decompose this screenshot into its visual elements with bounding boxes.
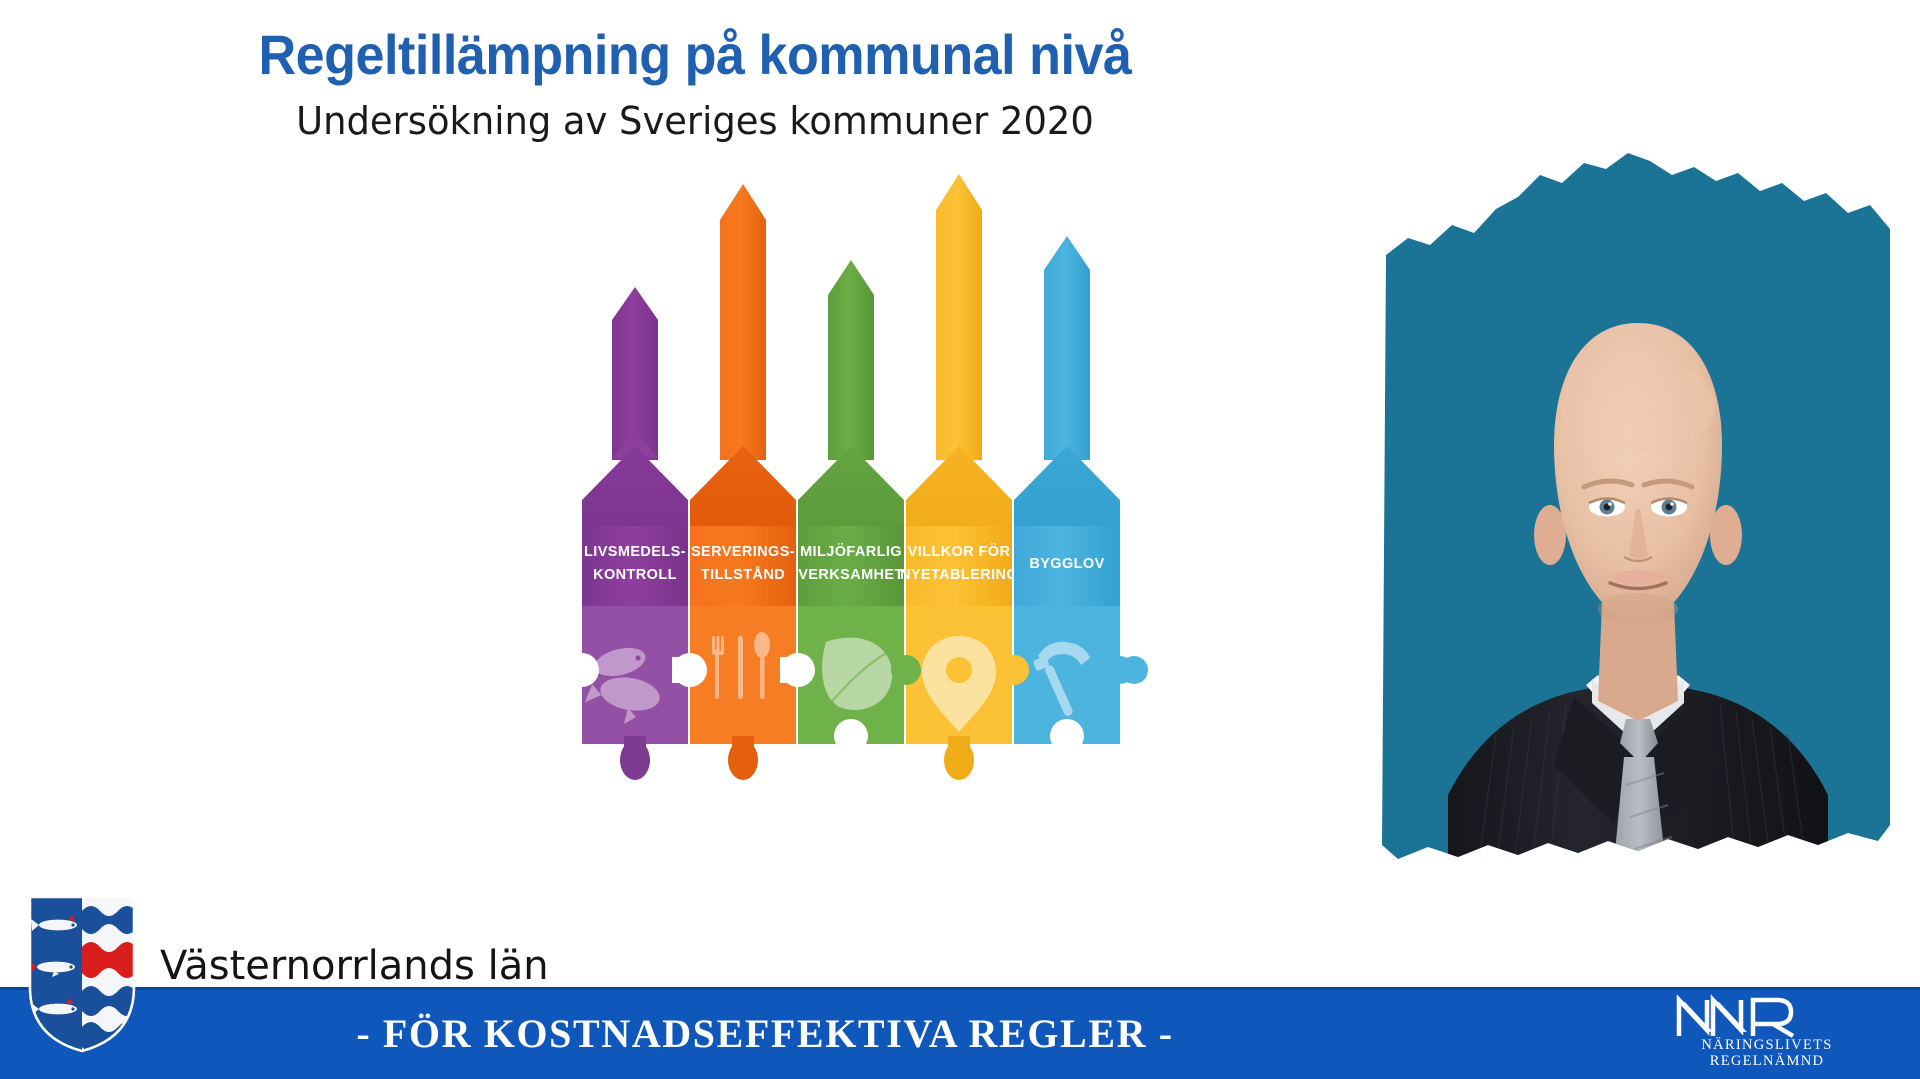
page-title: Regeltillämpning på kommunal nivå xyxy=(49,26,1342,85)
eye-right xyxy=(1651,498,1687,517)
pillar-roof-blue xyxy=(1014,446,1120,528)
pillar-roof-orange xyxy=(690,446,796,528)
pillar-body-green xyxy=(798,526,904,606)
pillar-body-purple xyxy=(582,526,688,606)
nnr-subtitle-line2: REGELNÄMND xyxy=(1662,1054,1872,1070)
piece-label-line1: BYGGLOV xyxy=(1029,556,1104,572)
pillar-shaft-yellow xyxy=(936,174,982,460)
page-subtitle: Undersökning av Sveriges kommuner 2020 xyxy=(21,101,1369,143)
eye-left xyxy=(1589,498,1625,517)
puzzle-piece-livsmedelskontroll: LIVSMEDELS- KONTROLL xyxy=(564,287,702,780)
piece-label-line2: KONTROLL xyxy=(593,567,677,583)
nnr-subtitle-line1: NÄRINGSLIVETS xyxy=(1662,1038,1872,1054)
puzzle-piece-villkor-for-nyetablering: VILLKOR FÖR NYETABLERING xyxy=(891,174,1026,780)
nnr-wordmark-icon xyxy=(1673,994,1861,1038)
puzzle-pillars-diagram: LIVSMEDELS- KONTROLL xyxy=(560,160,1280,920)
portrait-clip-group xyxy=(1378,105,1898,905)
piece-label-line1: MILJÖFARLIG xyxy=(800,543,902,560)
pillar-roof-yellow xyxy=(906,446,1012,528)
title-block: Regeltillämpning på kommunal nivå Unders… xyxy=(0,26,1390,143)
pillar-body-yellow xyxy=(906,526,1012,606)
pillar-shaft-green xyxy=(828,260,874,460)
pillar-body-orange xyxy=(690,526,796,606)
arms-waves xyxy=(82,895,138,1053)
slide-canvas: Regeltillämpning på kommunal nivå Unders… xyxy=(0,0,1920,1079)
puzzle-piece-serveringstillstand: SERVERINGS- TILLSTÅND xyxy=(672,184,810,780)
piece-label-line2: VERKSAMHET xyxy=(798,567,904,583)
pillar-shaft-orange xyxy=(720,184,766,460)
county-identity: Västernorrlands län xyxy=(26,895,549,1053)
piece-label-line2: NYETABLERING xyxy=(900,567,1018,583)
piece-label-line2: TILLSTÅND xyxy=(701,566,785,583)
piece-label-line1: LIVSMEDELS- xyxy=(584,544,686,560)
coat-of-arms xyxy=(26,895,138,1053)
puzzle-piece-bygglov: BYGGLOV xyxy=(999,236,1148,753)
person-portrait xyxy=(1378,105,1898,905)
pillar-shaft-blue xyxy=(1044,236,1090,460)
county-name: Västernorrlands län xyxy=(160,946,549,986)
nnr-logo: NÄRINGSLIVETS REGELNÄMND xyxy=(1662,994,1872,1072)
piece-label-line1: VILLKOR FÖR xyxy=(908,543,1011,560)
pillar-roof-purple xyxy=(582,446,688,528)
piece-label-line1: SERVERINGS- xyxy=(691,544,795,560)
pillar-roof-green xyxy=(798,446,904,528)
